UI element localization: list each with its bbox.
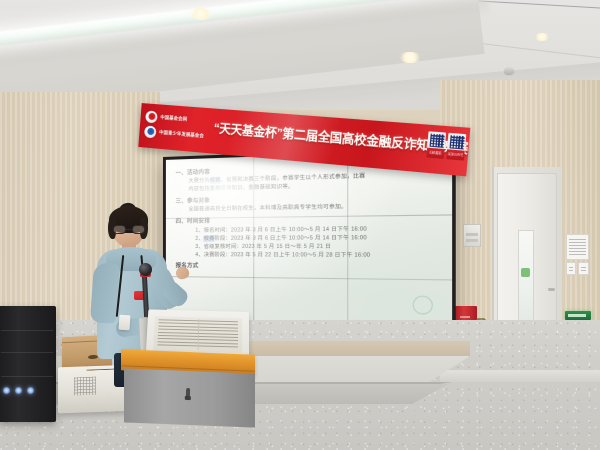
id-badge <box>118 315 130 331</box>
glasses-lens-left <box>113 225 126 234</box>
downlight-icon <box>398 52 422 63</box>
poster-text-lines <box>569 239 586 257</box>
rack-led-icon <box>15 387 22 394</box>
rack-led-icon <box>3 387 10 394</box>
slide-line: 4、决赛阶段：2023 年 5 月 22 日上午 10:00～5 月 28 日下… <box>176 251 443 260</box>
panel-seam <box>347 153 348 343</box>
slide-line: 报名方式 <box>176 262 443 273</box>
exit-sign <box>565 311 591 320</box>
slide-line: 3、省级复核时间：2023 年 5 月 15 日～年 5 月 21 日 <box>176 242 443 251</box>
poster-text-lines <box>581 267 586 272</box>
poster-text-lines <box>569 267 573 272</box>
smoke-detector-icon <box>504 67 514 74</box>
electrical-panel[interactable] <box>463 224 481 247</box>
downlight-icon <box>188 8 214 20</box>
notice-poster <box>566 262 576 275</box>
glasses-lens-right <box>132 225 145 234</box>
downlight-icon <box>534 33 550 41</box>
right-hand <box>174 265 190 281</box>
glasses-icon <box>113 225 145 234</box>
room-scene: 一、活动内容大赛分为校赛、省赛和决赛三个阶段，参赛学生以个人形式参加，比赛内容包… <box>0 0 600 450</box>
slide-watermark-icon <box>413 295 433 314</box>
lectern-lock-icon[interactable] <box>186 388 190 398</box>
control-monitor-screen <box>153 316 242 353</box>
panel-seam <box>253 157 254 340</box>
door-handle[interactable] <box>548 288 555 291</box>
notice-poster <box>578 262 589 275</box>
rack-led-icon <box>27 387 34 394</box>
right-wall-baseboard <box>440 370 600 382</box>
notice-poster <box>566 234 589 260</box>
microphone-icon[interactable] <box>139 263 152 276</box>
equipment-rack <box>0 306 56 422</box>
slide-highlight: 校赛 <box>210 177 221 183</box>
door-sticker-icon <box>521 268 530 277</box>
